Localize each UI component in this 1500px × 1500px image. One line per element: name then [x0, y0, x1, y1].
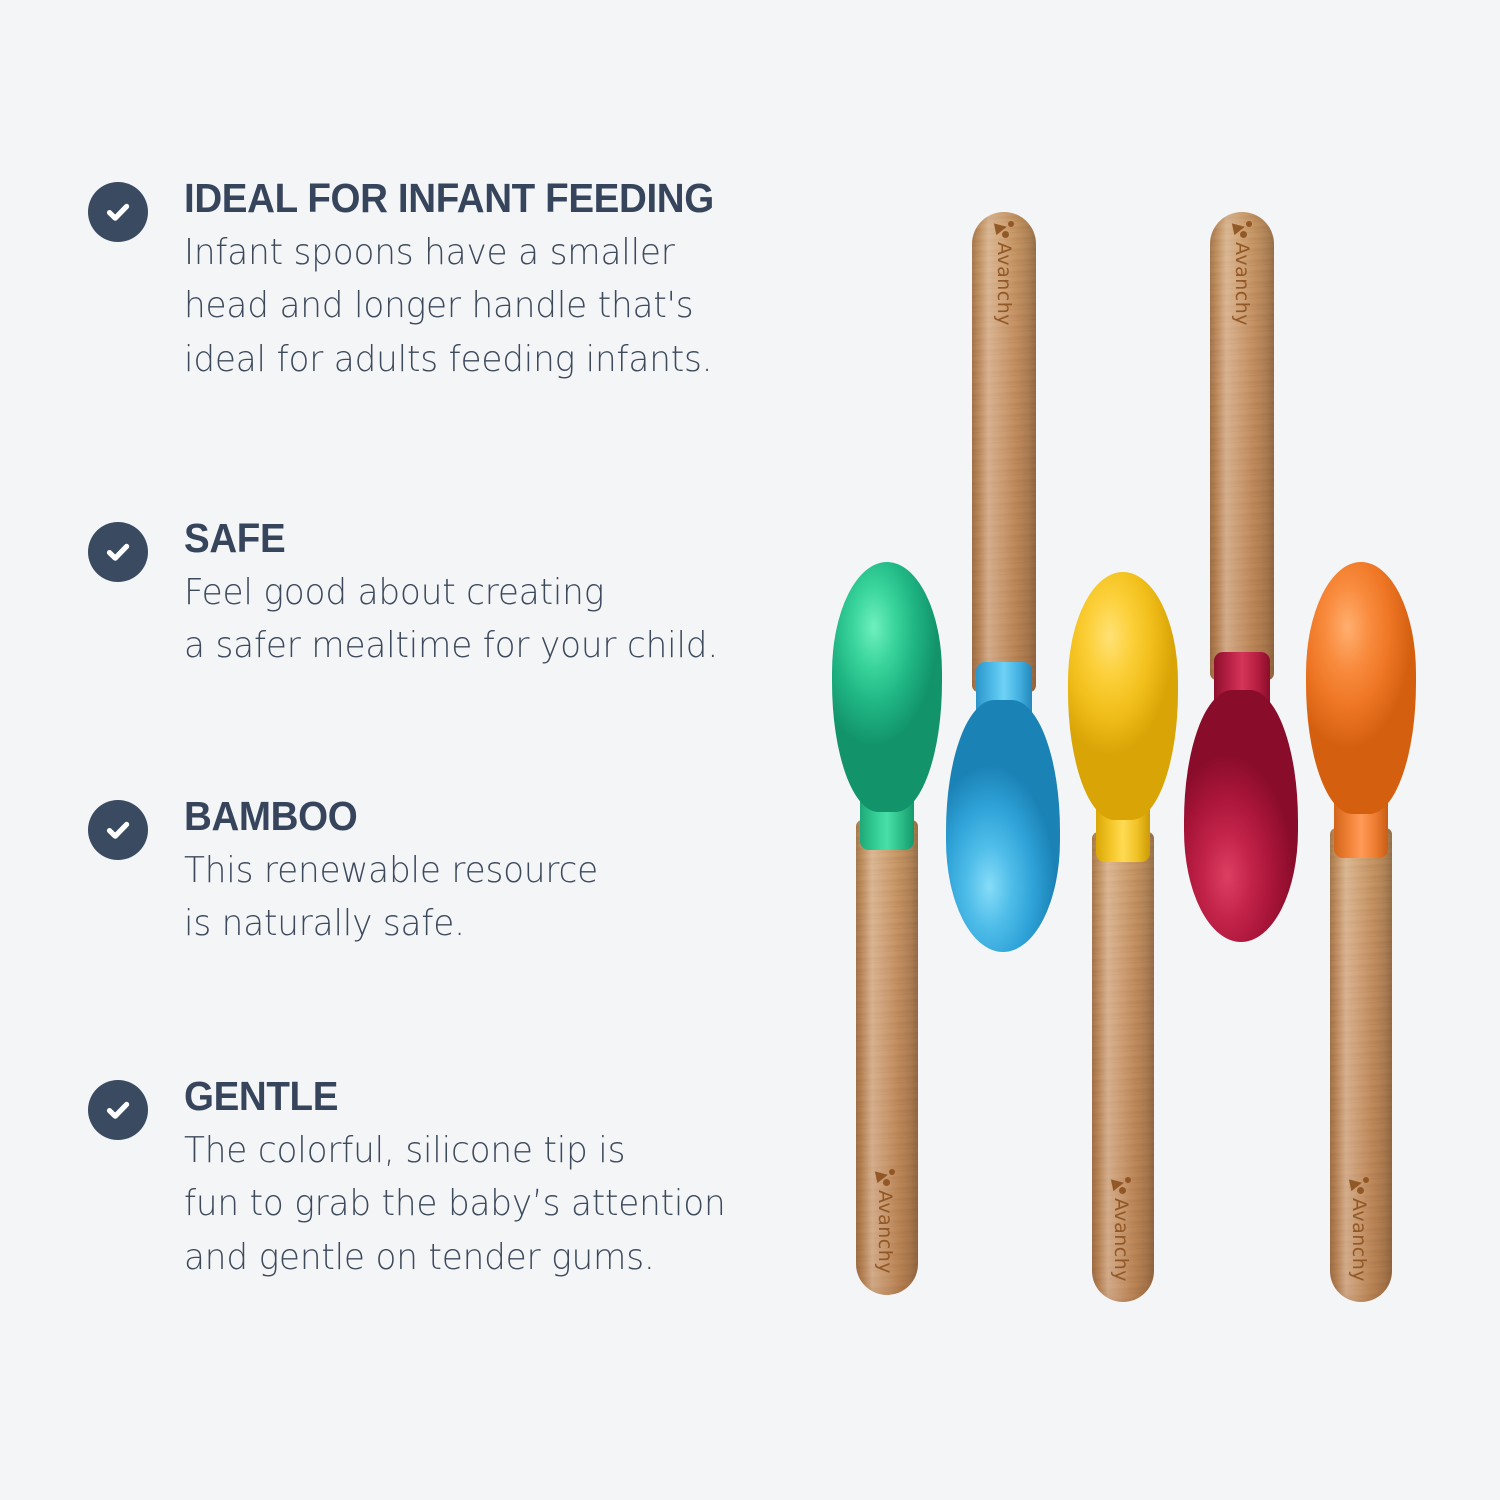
feature-body-line: Infant spoons have a smaller: [184, 226, 802, 279]
avanchy-logo-engraving: Avanchy: [1348, 1169, 1370, 1289]
check-circle-icon: [88, 1080, 148, 1140]
avanchy-mark-icon: [994, 220, 1014, 240]
feature-text: GENTLE The colorful, silicone tip is fun…: [184, 1076, 824, 1284]
feature-text: IDEAL FOR INFANT FEEDING Infant spoons h…: [184, 178, 824, 386]
avanchy-logo-engraving: Avanchy: [874, 1161, 896, 1281]
silicone-spoon-head: [1068, 572, 1178, 820]
silicone-spoon-head: [1184, 690, 1298, 942]
brand-name: Avanchy: [1348, 1198, 1370, 1282]
brand-name: Avanchy: [1110, 1198, 1132, 1282]
brand-name: Avanchy: [874, 1190, 896, 1274]
silicone-spoon-head: [832, 562, 942, 812]
feature-title: SAFE: [184, 518, 786, 559]
feature-body-line: head and longer handle that's: [184, 279, 802, 332]
avanchy-mark-icon: [1349, 1176, 1369, 1196]
feature-body-line: This renewable resource: [184, 844, 802, 897]
feature-body-line: is naturally safe.: [184, 897, 802, 950]
feature-title: BAMBOO: [184, 796, 786, 837]
feature-body-line: a safer mealtime for your child.: [184, 619, 802, 672]
silicone-spoon-head: [946, 700, 1060, 952]
feature-title: GENTLE: [184, 1076, 786, 1117]
avanchy-mark-icon: [1111, 1176, 1131, 1196]
check-circle-icon: [88, 522, 148, 582]
feature-body-line: fun to grab the baby’s attention: [184, 1177, 802, 1230]
avanchy-logo-engraving: Avanchy: [1110, 1169, 1132, 1289]
feature-body: Infant spoons have a smaller head and lo…: [184, 226, 802, 386]
avanchy-mark-icon: [1232, 220, 1252, 240]
feature-body: This renewable resource is naturally saf…: [184, 844, 802, 951]
feature-text: SAFE Feel good about creating a safer me…: [184, 518, 824, 673]
avanchy-mark-icon: [875, 1168, 895, 1188]
brand-name: Avanchy: [1231, 242, 1253, 326]
product-image-spoons: Avanchy Avanchy Avanchy: [800, 0, 1500, 1500]
check-circle-icon: [88, 800, 148, 860]
infographic-canvas: IDEAL FOR INFANT FEEDING Infant spoons h…: [0, 0, 1500, 1500]
silicone-spoon-head: [1306, 562, 1416, 814]
brand-name: Avanchy: [993, 242, 1015, 326]
feature-body-line: and gentle on tender gums.: [184, 1231, 802, 1284]
feature-body-line: ideal for adults feeding infants.: [184, 333, 802, 386]
feature-body-line: Feel good about creating: [184, 566, 802, 619]
feature-body: Feel good about creating a safer mealtim…: [184, 566, 802, 673]
feature-body: The colorful, silicone tip is fun to gra…: [184, 1124, 802, 1284]
avanchy-logo-engraving: Avanchy: [993, 213, 1015, 333]
feature-title: IDEAL FOR INFANT FEEDING: [184, 178, 786, 219]
feature-text: BAMBOO This renewable resource is natura…: [184, 796, 824, 951]
feature-list: IDEAL FOR INFANT FEEDING Infant spoons h…: [0, 0, 830, 1500]
avanchy-logo-engraving: Avanchy: [1231, 213, 1253, 333]
check-circle-icon: [88, 182, 148, 242]
feature-body-line: The colorful, silicone tip is: [184, 1124, 802, 1177]
